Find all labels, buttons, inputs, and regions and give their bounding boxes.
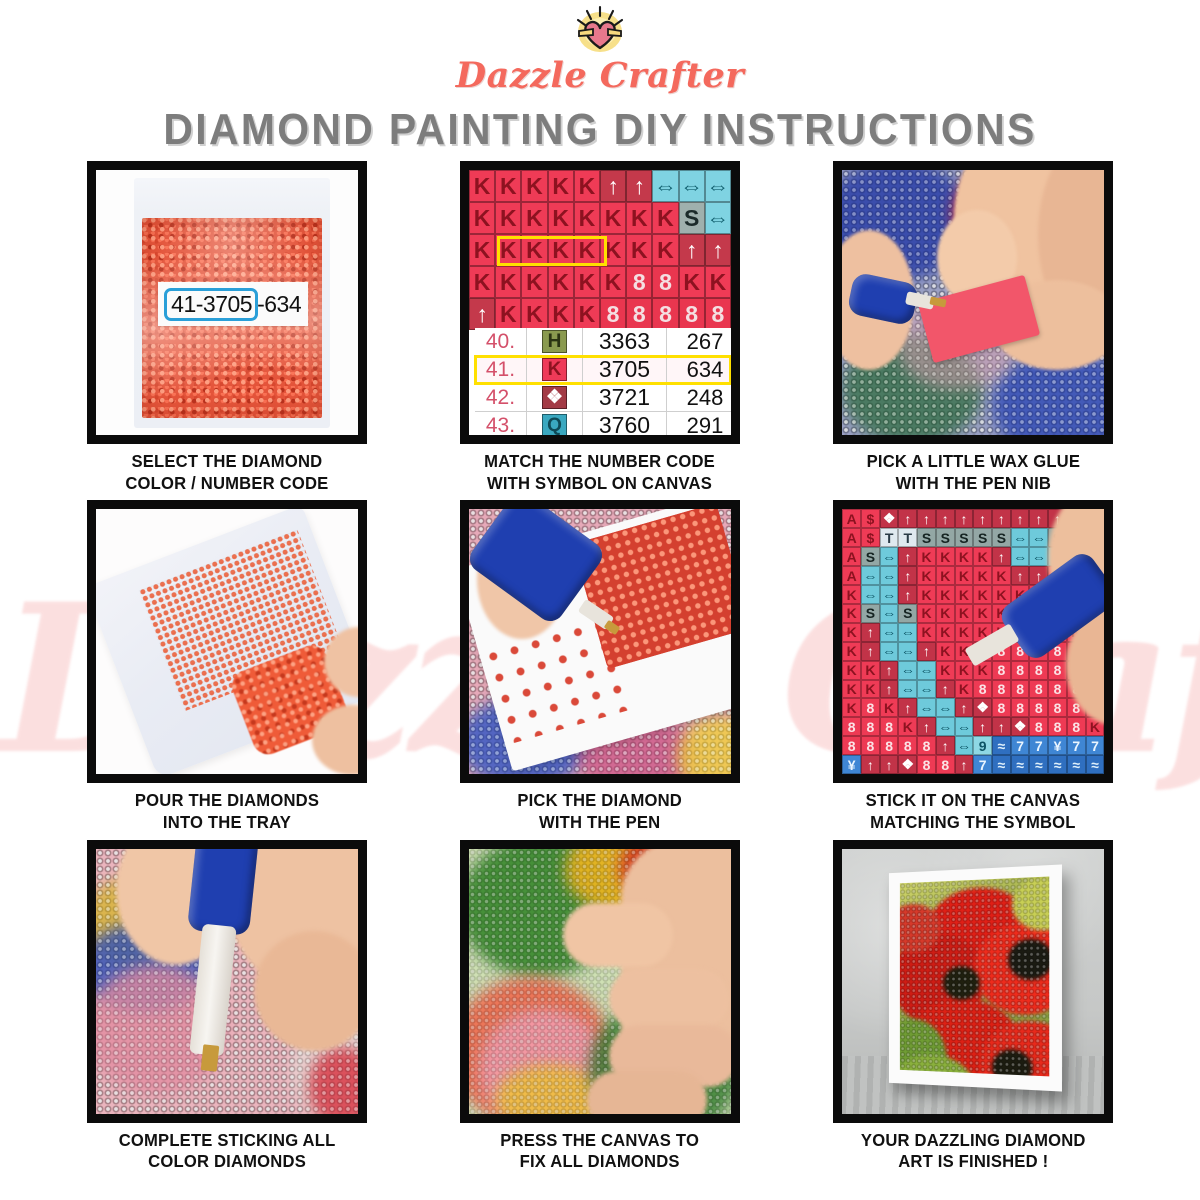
symbol-cell: K — [936, 604, 955, 623]
chart-cell: K — [574, 298, 600, 330]
step-8-photo-frame — [460, 840, 740, 1123]
symbol-cell: T — [880, 528, 899, 547]
symbol-cell: K — [861, 680, 880, 699]
symbol-cell: K — [973, 585, 992, 604]
chart-cell: K — [574, 170, 600, 202]
step-1-photo-frame: 41-3705-634 — [87, 161, 367, 444]
symbol-cell: ⇔ — [1011, 547, 1030, 566]
symbol-cell: 8 — [992, 698, 1011, 717]
symbol-cell: 8 — [1029, 698, 1048, 717]
symbol-cell: K — [955, 680, 974, 699]
step-3-caption-line1: PICK A LITTLE WAX GLUE — [867, 451, 1081, 473]
symbol-cell: 8 — [898, 736, 917, 755]
symbol-cell: ↑ — [936, 680, 955, 699]
symbol-cell: ↑ — [973, 509, 992, 528]
symbol-cell: K — [917, 547, 936, 566]
chart-cell: K — [521, 234, 547, 266]
symbol-cell: K — [842, 585, 861, 604]
symbol-cell: ≈ — [992, 736, 1011, 755]
step-6-caption-line1: STICK IT ON THE CANVAS — [866, 790, 1080, 812]
legend-row-number: 43. — [475, 412, 527, 435]
page-title: DIAMOND PAINTING DIY INSTRUCTIONS — [42, 105, 1158, 155]
step-9-caption-line2: ART IS FINISHED ! — [861, 1151, 1086, 1173]
symbol-cell: ⇔ — [936, 717, 955, 736]
symbol-cell: ↑ — [917, 509, 936, 528]
symbol-cell: ⇔ — [880, 623, 899, 642]
symbol-cell: ≈ — [1067, 755, 1086, 774]
symbol-cell: ↑ — [898, 509, 917, 528]
pick-diamond-photo — [469, 509, 731, 774]
symbol-cell: $ — [861, 528, 880, 547]
step-3-caption: PICK A LITTLE WAX GLUE WITH THE PEN NIB — [867, 451, 1081, 494]
chart-cell: K — [495, 266, 521, 298]
chart-cell: K — [626, 234, 652, 266]
step-4: POUR THE DIAMONDS INTO THE TRAY — [40, 500, 413, 833]
chart-cell: K — [652, 234, 678, 266]
step-7-caption-line2: COLOR DIAMONDS — [118, 1151, 335, 1173]
symbol-cell: ⇔ — [898, 642, 917, 661]
legend-row-symbol: ❖ — [527, 384, 583, 411]
symbol-cell: ↑ — [1011, 509, 1030, 528]
symbol-cell: K — [973, 566, 992, 585]
chart-legend-photo: KKKKK↑↑⇔⇔⇔KKKKKKKKS⇔KKKKKKKK↑↑KKKKKK88KK… — [469, 170, 731, 435]
symbol-cell: ⇔ — [861, 585, 880, 604]
chart-cell: 8 — [652, 298, 678, 330]
symbol-cell: K — [861, 661, 880, 680]
symbol-cell: K — [992, 566, 1011, 585]
symbol-cell: ⇔ — [955, 736, 974, 755]
symbol-cell: K — [917, 585, 936, 604]
symbol-cell: S — [861, 547, 880, 566]
chart-cell: 8 — [626, 298, 652, 330]
symbol-cell: K — [917, 604, 936, 623]
bag-code-rest: -634 — [257, 291, 301, 317]
symbol-cell: 8 — [861, 736, 880, 755]
symbol-cell: ⇔ — [1011, 528, 1030, 547]
symbol-cell: 8 — [842, 717, 861, 736]
infographic-page: Dazzle Crafter Dazzle Crafter DIAMOND PA… — [0, 0, 1200, 1200]
legend-row-symbol: H — [527, 328, 583, 355]
chart-cell: K — [705, 266, 731, 298]
bag-code-label: 41-3705-634 — [158, 282, 308, 326]
legend-row-number: 40. — [475, 328, 527, 355]
symbol-cell: K — [842, 661, 861, 680]
symbol-cell: ❖ — [880, 509, 899, 528]
step-1-caption-line2: COLOR / NUMBER CODE — [125, 473, 328, 495]
symbol-cell: K — [898, 717, 917, 736]
symbol-cell: K — [973, 604, 992, 623]
chart-cell: K — [548, 266, 574, 298]
chart-cell: K — [469, 266, 495, 298]
chart-cell: ⇔ — [652, 170, 678, 202]
symbol-cell: ≈ — [1011, 755, 1030, 774]
chart-cell: K — [548, 234, 574, 266]
symbol-cell: ↑ — [898, 585, 917, 604]
chart-cell: ↑ — [626, 170, 652, 202]
chart-cell: ↑ — [705, 234, 731, 266]
chart-cell: K — [600, 202, 626, 234]
symbol-cell: ↑ — [861, 642, 880, 661]
symbol-cell: ≈ — [1029, 755, 1048, 774]
symbol-cell: ↑ — [880, 755, 899, 774]
chart-cell: 8 — [705, 298, 731, 330]
legend-row: 43.Q3760291 — [475, 412, 731, 435]
step-8: PRESS THE CANVAS TO FIX ALL DIAMONDS — [413, 840, 786, 1173]
step-1: 41-3705-634 SELECT THE DIAMOND COLOR / N… — [40, 161, 413, 494]
tray-photo — [96, 509, 358, 774]
step-9-caption-line1: YOUR DAZZLING DIAMOND — [861, 1130, 1086, 1152]
symbol-cell: K — [936, 623, 955, 642]
symbol-cell: S — [955, 528, 974, 547]
legend-row-symbol: Q — [527, 412, 583, 435]
symbol-cell: K — [973, 547, 992, 566]
symbol-cell: A — [842, 528, 861, 547]
symbol-cell: 8 — [1048, 661, 1067, 680]
legend-row-count: 634 — [667, 356, 731, 383]
symbol-cell: S — [861, 604, 880, 623]
symbol-cell: ⇔ — [936, 698, 955, 717]
chart-cell: K — [574, 266, 600, 298]
pen-nib-icon — [200, 1044, 219, 1072]
chart-cell: K — [495, 234, 521, 266]
symbol-cell: 8 — [1048, 680, 1067, 699]
symbol-cell: K — [955, 566, 974, 585]
symbol-cell: ⇔ — [1029, 547, 1048, 566]
symbol-cell: 8 — [842, 736, 861, 755]
legend-row-symbol: K — [527, 356, 583, 383]
symbol-cell: 9 — [973, 736, 992, 755]
chart-cell: 8 — [652, 266, 678, 298]
symbol-cell: 8 — [936, 755, 955, 774]
symbol-cell: K — [842, 680, 861, 699]
symbol-cell: K — [992, 585, 1011, 604]
complete-sticking-photo — [96, 849, 358, 1114]
symbol-cell: ≈ — [1086, 755, 1105, 774]
finished-art-photo — [842, 849, 1104, 1114]
symbol-cell: ⇔ — [880, 585, 899, 604]
symbol-cell: ≈ — [992, 755, 1011, 774]
symbol-cell: K — [955, 547, 974, 566]
chart-cell: K — [495, 170, 521, 202]
legend-row-count: 291 — [667, 412, 731, 435]
symbol-cell: 8 — [1067, 717, 1086, 736]
chart-cell: ⇔ — [705, 170, 731, 202]
chart-cell: K — [469, 234, 495, 266]
step-5: PICK THE DIAMOND WITH THE PEN — [413, 500, 786, 833]
steps-grid: 41-3705-634 SELECT THE DIAMOND COLOR / N… — [40, 161, 1160, 1173]
symbol-cell: ↑ — [861, 623, 880, 642]
symbol-cell: ↑ — [880, 680, 899, 699]
symbol-cell: ≈ — [1048, 755, 1067, 774]
symbol-cell: 8 — [861, 717, 880, 736]
symbol-cell: ↑ — [936, 509, 955, 528]
diamond-bag-photo: 41-3705-634 — [96, 170, 358, 435]
symbol-cell: K — [955, 585, 974, 604]
stick-canvas-photo: A$❖↑↑↑↑↑↑↑↑↑↑KA$TTSSSSS⇔⇔S⇔KAS⇔↑KKKK↑⇔⇔⇔… — [842, 509, 1104, 774]
symbol-cell: 8 — [880, 736, 899, 755]
symbol-cell: ⇔ — [880, 642, 899, 661]
symbol-cell: ↑ — [992, 717, 1011, 736]
step-7: COMPLETE STICKING ALL COLOR DIAMONDS — [40, 840, 413, 1173]
step-1-caption-line1: SELECT THE DIAMOND — [125, 451, 328, 473]
symbol-cell: 8 — [992, 680, 1011, 699]
symbol-cell: ↑ — [880, 661, 899, 680]
symbol-cell: K — [842, 698, 861, 717]
symbol-cell: ↑ — [898, 566, 917, 585]
symbol-cell: ⇔ — [917, 661, 936, 680]
symbol-cell: K — [936, 585, 955, 604]
symbol-cell: ⇔ — [1029, 528, 1048, 547]
chart-cell: K — [469, 202, 495, 234]
chart-cell: K — [548, 298, 574, 330]
white-picture-frame — [889, 864, 1062, 1091]
symbol-cell: ⇔ — [880, 566, 899, 585]
symbol-cell: ↑ — [1029, 509, 1048, 528]
symbol-cell: ↑ — [955, 755, 974, 774]
step-5-caption-line2: WITH THE PEN — [518, 812, 683, 834]
symbol-cell: K — [917, 566, 936, 585]
chart-cell: K — [574, 234, 600, 266]
step-9-caption: YOUR DAZZLING DIAMOND ART IS FINISHED ! — [861, 1130, 1086, 1173]
symbol-cell: S — [936, 528, 955, 547]
symbol-cell: 7 — [973, 755, 992, 774]
symbol-cell: A — [842, 509, 861, 528]
symbol-cell: 8 — [880, 717, 899, 736]
symbol-cell: ↑ — [973, 717, 992, 736]
symbol-cell: ⇔ — [898, 661, 917, 680]
symbol-cell: 8 — [917, 736, 936, 755]
symbol-cell: ⇔ — [955, 717, 974, 736]
drill-pen-grip — [187, 849, 259, 936]
step-4-caption: POUR THE DIAMONDS INTO THE TRAY — [135, 790, 319, 833]
symbol-cell: 8 — [973, 680, 992, 699]
symbol-cell: ⇔ — [880, 547, 899, 566]
symbol-cell: 8 — [1029, 717, 1048, 736]
step-8-caption-line2: FIX ALL DIAMONDS — [501, 1151, 700, 1173]
chart-cell: S — [679, 202, 705, 234]
step-6: A$❖↑↑↑↑↑↑↑↑↑↑KA$TTSSSSS⇔⇔S⇔KAS⇔↑KKKK↑⇔⇔⇔… — [787, 500, 1160, 833]
chart-cell: K — [469, 170, 495, 202]
symbol-cell: K — [842, 623, 861, 642]
step-7-caption: COMPLETE STICKING ALL COLOR DIAMONDS — [118, 1130, 335, 1173]
symbol-cell: ↑ — [992, 547, 1011, 566]
chart-cell: K — [652, 202, 678, 234]
step-5-caption: PICK THE DIAMOND WITH THE PEN — [518, 790, 683, 833]
chart-cell: ↑ — [679, 234, 705, 266]
legend-row: 42.❖3721248 — [475, 384, 731, 412]
step-5-photo-frame — [460, 500, 740, 783]
canvas-symbol-chart: KKKKK↑↑⇔⇔⇔KKKKKKKKS⇔KKKKKKKK↑↑KKKKKK88KK… — [469, 170, 731, 330]
symbol-cell: ⇔ — [898, 680, 917, 699]
chart-cell: K — [495, 202, 521, 234]
brand-logo: Dazzle Crafter — [0, 0, 1200, 96]
bag-code-highlight: 41-3705 — [164, 288, 258, 321]
chart-cell: ⇔ — [679, 170, 705, 202]
symbol-cell: ↑ — [917, 717, 936, 736]
chart-cell: K — [495, 298, 521, 330]
step-4-caption-line1: POUR THE DIAMONDS — [135, 790, 319, 812]
symbol-cell: 8 — [1029, 680, 1048, 699]
chart-cell: K — [548, 202, 574, 234]
step-2-caption-line2: WITH SYMBOL ON CANVAS — [485, 473, 716, 495]
chart-cell: K — [521, 266, 547, 298]
chart-cell: K — [679, 266, 705, 298]
legend-row-dmc-code: 3705 — [583, 356, 667, 383]
step-1-caption: SELECT THE DIAMOND COLOR / NUMBER CODE — [125, 451, 328, 494]
symbol-cell: K — [842, 642, 861, 661]
symbol-cell: 7 — [1067, 736, 1086, 755]
symbol-cell: ⇔ — [898, 623, 917, 642]
symbol-cell: 7 — [1086, 736, 1105, 755]
chart-cell: K — [574, 202, 600, 234]
symbol-cell: A — [842, 566, 861, 585]
symbol-cell: K — [936, 566, 955, 585]
legend-row: 40.H3363267 — [475, 328, 731, 356]
chart-cell: K — [521, 298, 547, 330]
step-8-caption-line1: PRESS THE CANVAS TO — [501, 1130, 700, 1152]
symbol-cell: 8 — [861, 698, 880, 717]
chart-cell: 8 — [626, 266, 652, 298]
symbol-cell: K — [880, 698, 899, 717]
symbol-cell: A — [842, 547, 861, 566]
symbol-cell: ↑ — [1011, 566, 1030, 585]
step-6-photo-frame: A$❖↑↑↑↑↑↑↑↑↑↑KA$TTSSSSS⇔⇔S⇔KAS⇔↑KKKK↑⇔⇔⇔… — [833, 500, 1113, 783]
symbol-cell: ❖ — [1011, 717, 1030, 736]
symbol-cell: 7 — [1011, 736, 1030, 755]
step-3: PICK A LITTLE WAX GLUE WITH THE PEN NIB — [787, 161, 1160, 494]
step-7-caption-line1: COMPLETE STICKING ALL — [118, 1130, 335, 1152]
symbol-cell: 8 — [1029, 661, 1048, 680]
symbol-cell: K — [936, 642, 955, 661]
step-9: YOUR DAZZLING DIAMOND ART IS FINISHED ! — [787, 840, 1160, 1173]
heart-pen-icon — [563, 4, 637, 56]
chart-cell: K — [600, 234, 626, 266]
step-2-caption-line1: MATCH THE NUMBER CODE — [485, 451, 716, 473]
chart-cell: K — [521, 170, 547, 202]
legend-row-number: 41. — [475, 356, 527, 383]
symbol-cell: ↑ — [917, 642, 936, 661]
symbol-cell: ¥ — [842, 755, 861, 774]
chart-cell: K — [626, 202, 652, 234]
symbol-cell: 8 — [1048, 698, 1067, 717]
symbol-cell: S — [898, 604, 917, 623]
legend-row-dmc-code: 3721 — [583, 384, 667, 411]
symbol-cell: K — [936, 547, 955, 566]
symbol-cell: K — [936, 661, 955, 680]
page-header: Dazzle Crafter DIAMOND PAINTING DIY INST… — [0, 0, 1200, 155]
step-7-photo-frame — [87, 840, 367, 1123]
chart-cell: ↑ — [600, 170, 626, 202]
symbol-cell: S — [917, 528, 936, 547]
legend-row-dmc-code: 3363 — [583, 328, 667, 355]
brand-name: Dazzle Crafter — [456, 55, 744, 96]
symbol-cell: K — [842, 604, 861, 623]
symbol-cell: 8 — [1011, 680, 1030, 699]
step-8-caption: PRESS THE CANVAS TO FIX ALL DIAMONDS — [501, 1130, 700, 1173]
chart-cell: K — [548, 170, 574, 202]
symbol-cell: 7 — [1029, 736, 1048, 755]
chart-cell: ↑ — [469, 298, 495, 330]
bag-code-text: 41-3705-634 — [164, 291, 301, 318]
symbol-cell: S — [973, 528, 992, 547]
step-4-photo-frame — [87, 500, 367, 783]
symbol-cell: K — [955, 604, 974, 623]
legend-row-count: 267 — [667, 328, 731, 355]
step-6-caption-line2: MATCHING THE SYMBOL — [866, 812, 1080, 834]
legend-row-count: 248 — [667, 384, 731, 411]
symbol-cell: 8 — [1011, 698, 1030, 717]
symbol-cell: ❖ — [898, 755, 917, 774]
symbol-cell: ↑ — [992, 509, 1011, 528]
step-2-caption: MATCH THE NUMBER CODE WITH SYMBOL ON CAN… — [485, 451, 716, 494]
symbol-cell: K — [955, 623, 974, 642]
symbol-cell: ↑ — [955, 698, 974, 717]
wax-glue-photo — [842, 170, 1104, 435]
step-3-photo-frame — [833, 161, 1113, 444]
chart-cell: ⇔ — [705, 202, 731, 234]
symbol-cell: $ — [861, 509, 880, 528]
step-6-caption: STICK IT ON THE CANVAS MATCHING THE SYMB… — [866, 790, 1080, 833]
symbol-cell: K — [955, 661, 974, 680]
poppy-artwork — [900, 876, 1049, 1076]
symbol-cell: ⇔ — [917, 698, 936, 717]
symbol-cell: S — [992, 528, 1011, 547]
step-2-photo-frame: KKKKK↑↑⇔⇔⇔KKKKKKKKS⇔KKKKKKKK↑↑KKKKKK88KK… — [460, 161, 740, 444]
step-3-caption-line2: WITH THE PEN NIB — [867, 473, 1081, 495]
symbol-cell: ↑ — [936, 736, 955, 755]
legend-row-number: 42. — [475, 384, 527, 411]
symbol-cell: ↑ — [861, 755, 880, 774]
chart-cell: K — [521, 202, 547, 234]
symbol-cell: ⇔ — [917, 680, 936, 699]
symbol-cell: ↑ — [955, 509, 974, 528]
symbol-cell: ↑ — [898, 698, 917, 717]
chart-cell: 8 — [679, 298, 705, 330]
symbol-cell: T — [898, 528, 917, 547]
press-canvas-photo — [469, 849, 731, 1114]
step-4-caption-line2: INTO THE TRAY — [135, 812, 319, 834]
symbol-cell: 8 — [992, 661, 1011, 680]
step-5-caption-line1: PICK THE DIAMOND — [518, 790, 683, 812]
legend-row-dmc-code: 3760 — [583, 412, 667, 435]
step-9-photo-frame — [833, 840, 1113, 1123]
symbol-cell: 8 — [1048, 717, 1067, 736]
step-2: KKKKK↑↑⇔⇔⇔KKKKKKKKS⇔KKKKKKKK↑↑KKKKKK88KK… — [413, 161, 786, 494]
dmc-legend-table: 40.H336326741.K370563442.❖372124843.Q376… — [475, 328, 731, 435]
symbol-cell: K — [917, 623, 936, 642]
legend-row: 41.K3705634 — [475, 356, 731, 384]
chart-cell: 8 — [600, 298, 626, 330]
chart-cell: K — [600, 266, 626, 298]
symbol-cell: 8 — [1011, 661, 1030, 680]
symbol-cell: ⇔ — [880, 604, 899, 623]
symbol-cell: ❖ — [973, 698, 992, 717]
symbol-cell: ↑ — [898, 547, 917, 566]
symbol-cell: 8 — [917, 755, 936, 774]
symbol-cell: ¥ — [1048, 736, 1067, 755]
symbol-cell: ⇔ — [861, 566, 880, 585]
